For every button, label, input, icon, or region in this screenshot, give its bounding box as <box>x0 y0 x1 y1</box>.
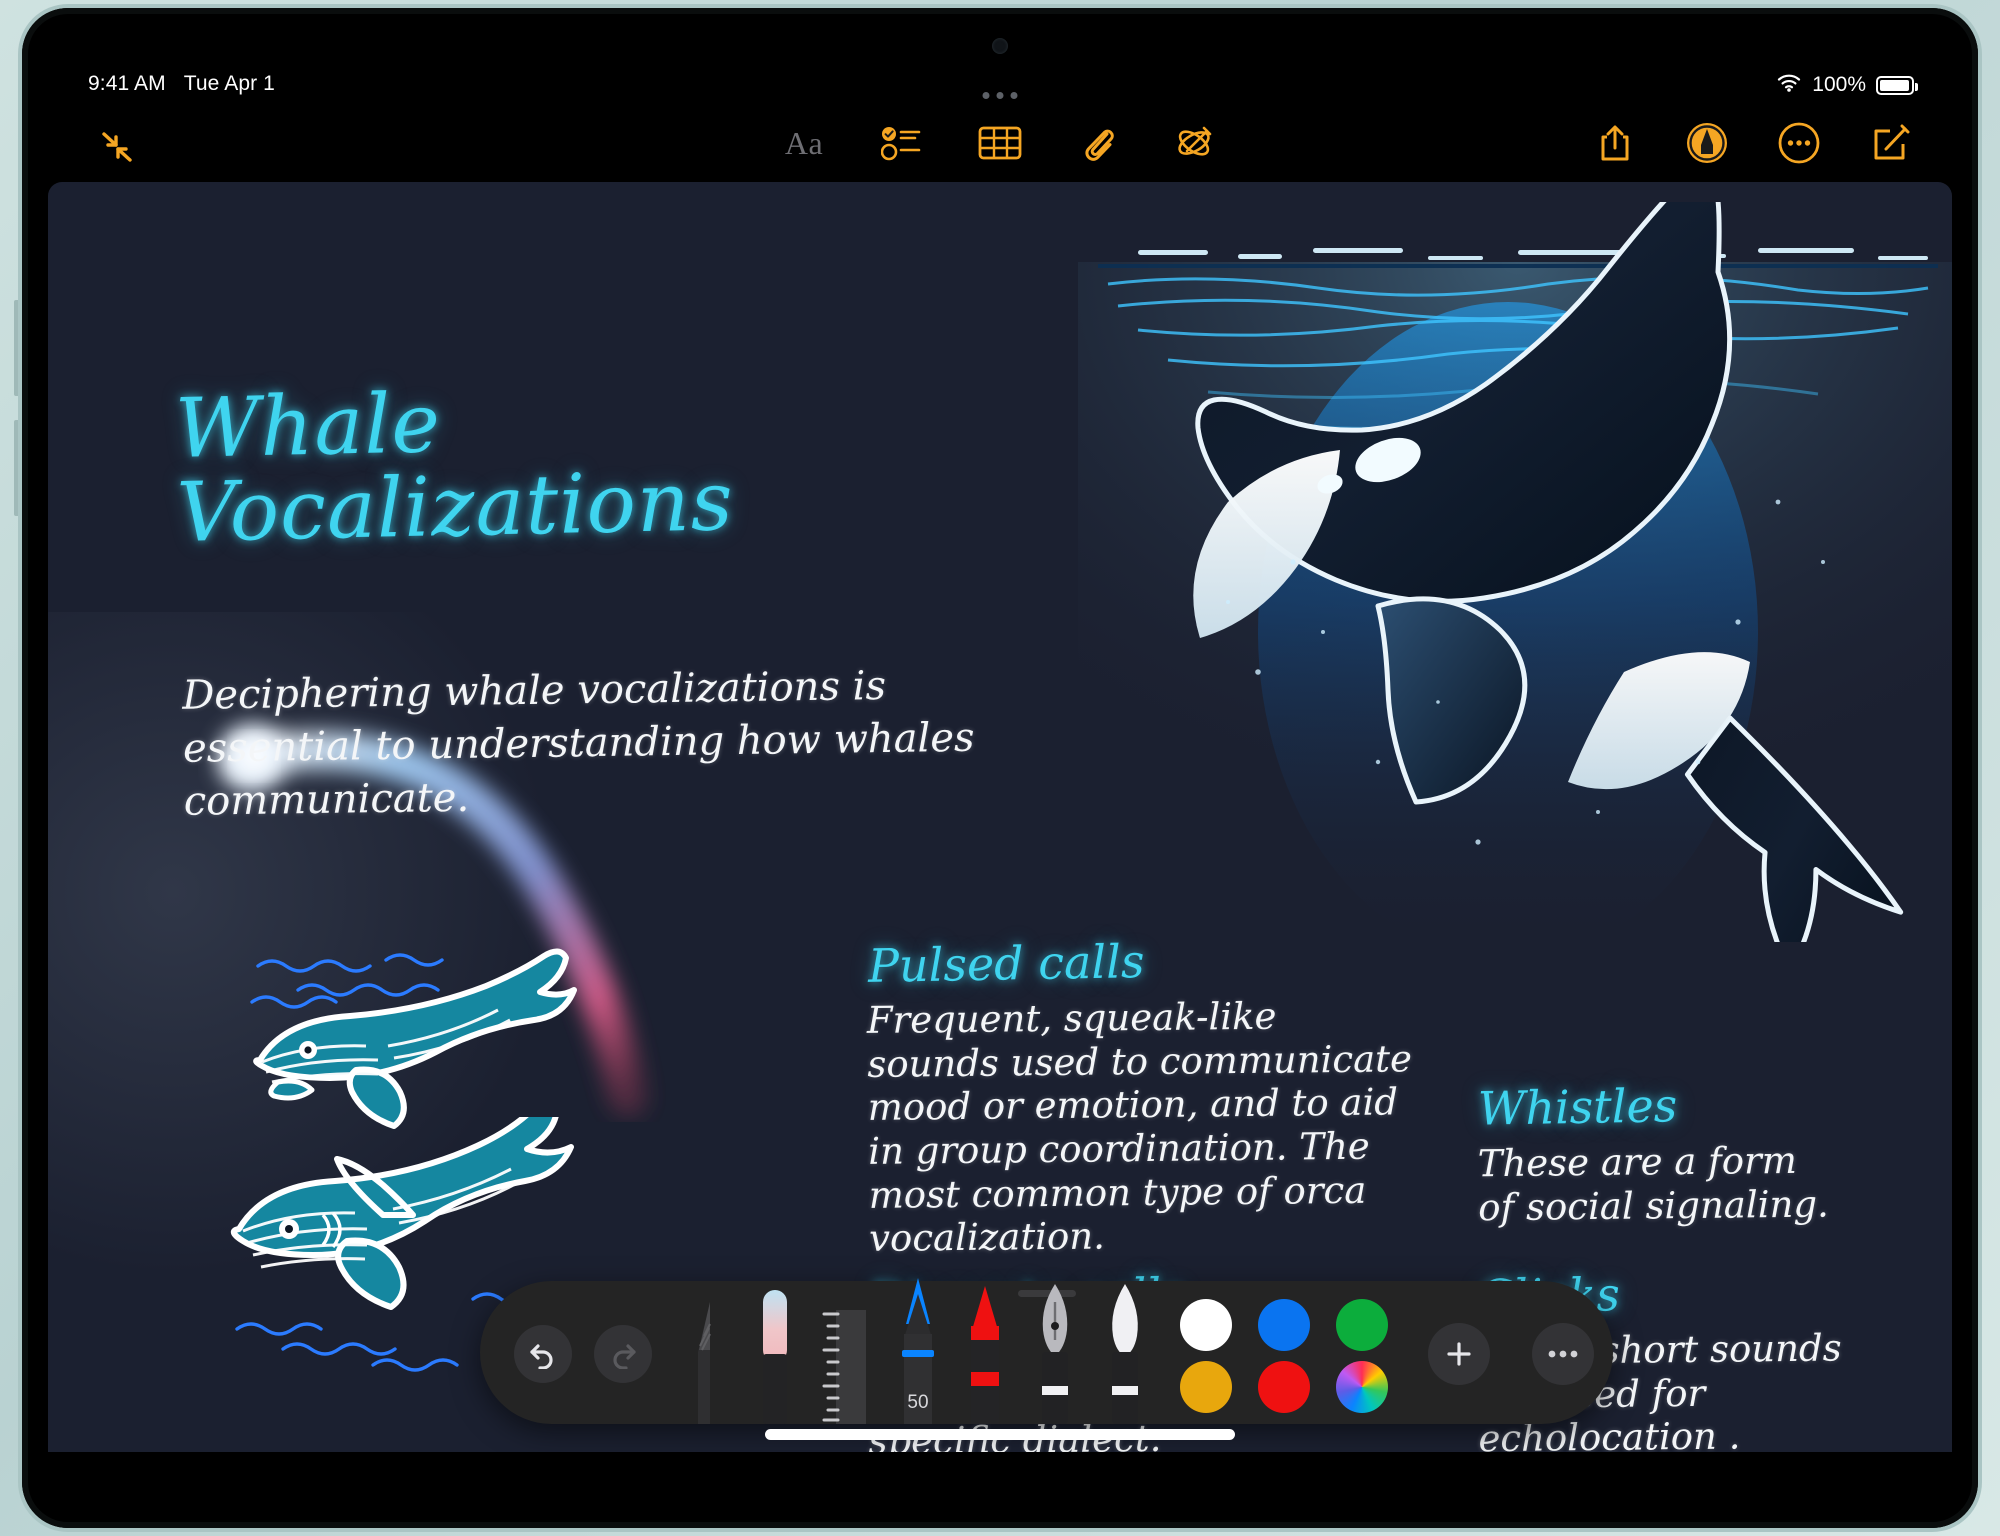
swatch-amber[interactable] <box>1180 1361 1232 1413</box>
note-canvas[interactable]: Whale Vocalizations Deciphering whale vo… <box>48 182 1952 1452</box>
wifi-icon <box>1776 72 1802 98</box>
tool-highlighter[interactable] <box>750 1288 798 1424</box>
compose-icon[interactable] <box>1868 120 1914 166</box>
format-text-button[interactable]: Aa <box>781 120 827 166</box>
note-title[interactable]: Whale Vocalizations <box>174 376 734 555</box>
battery-icon <box>1876 76 1914 95</box>
swatch-red[interactable] <box>1258 1361 1310 1413</box>
multitasking-control[interactable] <box>983 92 1018 99</box>
redo-button[interactable] <box>594 1325 652 1383</box>
ellipsis-circle-icon[interactable] <box>1776 120 1822 166</box>
tool-ruler[interactable] <box>820 1308 868 1424</box>
orca-illustration <box>1078 202 1952 942</box>
section-heading: Pulsed calls <box>868 933 1429 989</box>
volume-down-button[interactable] <box>14 420 22 516</box>
status-bar: 9:41 AM Tue Apr 1 100% <box>30 72 1970 106</box>
swatch-blue[interactable] <box>1258 1299 1310 1351</box>
tool-pen[interactable]: 50 <box>890 1276 938 1424</box>
swatch-color-wheel[interactable] <box>1336 1361 1388 1413</box>
tool-brush[interactable] <box>1100 1282 1148 1424</box>
undo-button[interactable] <box>514 1325 572 1383</box>
tool-fountain-pen[interactable] <box>1030 1282 1078 1424</box>
section-heading: Whistles <box>1478 1078 1899 1131</box>
checklist-icon[interactable] <box>879 120 925 166</box>
home-indicator[interactable] <box>765 1429 1235 1440</box>
battery-percent: 100% <box>1812 73 1866 97</box>
markup-scribble-icon[interactable] <box>1173 120 1219 166</box>
pen-circle-icon[interactable] <box>1684 120 1730 166</box>
volume-up-button[interactable] <box>14 300 22 396</box>
paperclip-icon[interactable] <box>1075 120 1121 166</box>
share-icon[interactable] <box>1592 120 1638 166</box>
ipad-device: 9:41 AM Tue Apr 1 100% <box>0 0 2000 1536</box>
section-body: These are a form of social signaling. <box>1478 1138 1899 1230</box>
add-color-button[interactable] <box>1428 1323 1490 1385</box>
pen-size-label: 50 <box>907 1392 928 1413</box>
section-whistles[interactable]: Whistles These are a form of social sign… <box>1478 1082 1898 1227</box>
swatch-green[interactable] <box>1336 1299 1388 1351</box>
screen: 9:41 AM Tue Apr 1 100% <box>30 16 1970 1520</box>
tool-crayon[interactable] <box>960 1284 1008 1424</box>
swatch-white[interactable] <box>1180 1299 1232 1351</box>
section-pulsed-calls[interactable]: Pulsed calls Frequent, squeak-like sound… <box>868 938 1428 1258</box>
tool-eraser-knife[interactable] <box>680 1296 728 1424</box>
table-icon[interactable] <box>977 120 1023 166</box>
palette-more-button[interactable] <box>1532 1323 1594 1385</box>
collapse-arrows-icon[interactable] <box>92 124 142 170</box>
status-time: 9:41 AM <box>88 72 166 96</box>
notes-toolbar: Aa <box>30 114 1970 182</box>
color-swatches[interactable] <box>1180 1299 1400 1413</box>
section-body: Frequent, squeak-like sounds used to com… <box>867 993 1430 1261</box>
status-date: Tue Apr 1 <box>184 72 275 96</box>
drawing-palette[interactable]: 50 <box>480 1281 1613 1424</box>
front-camera <box>992 38 1008 54</box>
note-intro[interactable]: Deciphering whale vocalizations is essen… <box>182 658 1014 828</box>
